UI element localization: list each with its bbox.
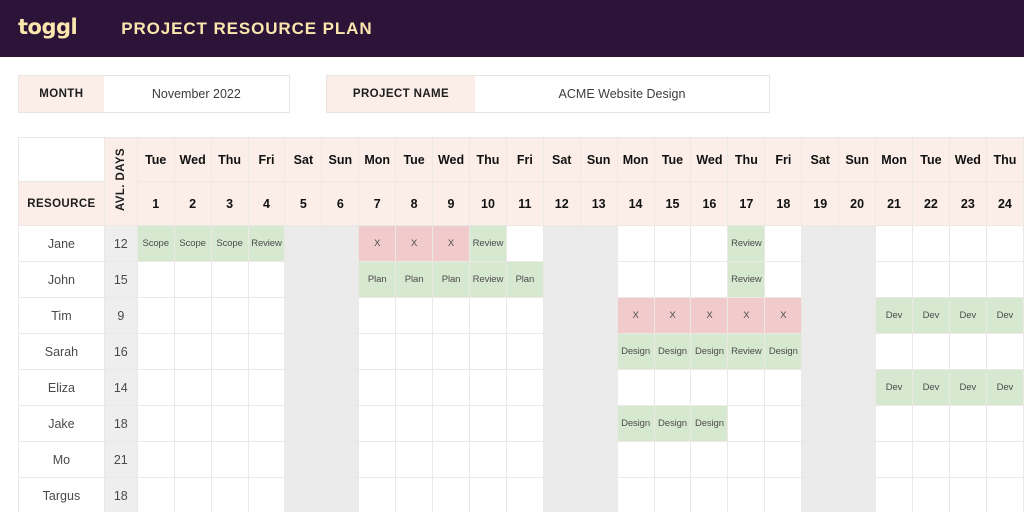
schedule-cell[interactable] (285, 334, 322, 370)
schedule-cell[interactable]: X (396, 226, 433, 262)
schedule-cell[interactable] (469, 442, 506, 478)
schedule-cell[interactable] (654, 478, 691, 512)
day-number-header-2: 2 (174, 182, 211, 226)
schedule-cell[interactable]: Design (617, 406, 654, 442)
table-row: Jane12ScopeScopeScopeReviewXXXReviewRevi… (19, 226, 1024, 262)
schedule-cell[interactable] (285, 226, 322, 262)
day-number-header-9: 9 (433, 182, 470, 226)
schedule-cell[interactable] (211, 334, 248, 370)
day-of-week-header-7: Mon (359, 138, 396, 182)
schedule-cell[interactable]: Review (728, 334, 765, 370)
schedule-cell[interactable] (876, 478, 913, 512)
day-of-week-header-14: Mon (617, 138, 654, 182)
schedule-cell[interactable] (617, 370, 654, 406)
day-of-week-header-1: Tue (137, 138, 174, 182)
table-row: John15PlanPlanPlanReviewPlanReview (19, 262, 1024, 298)
day-number-header-13: 13 (580, 182, 617, 226)
schedule-cell[interactable] (322, 442, 359, 478)
schedule-cell[interactable]: Review (728, 226, 765, 262)
avl-days-header-label: AVL. DAYS (115, 148, 127, 211)
schedule-cell[interactable] (469, 334, 506, 370)
schedule-cell[interactable] (876, 334, 913, 370)
schedule-cell[interactable]: Dev (986, 298, 1023, 334)
schedule-cell[interactable] (691, 370, 728, 406)
project-name-field-value[interactable]: ACME Website Design (475, 76, 769, 112)
month-field-value[interactable]: November 2022 (104, 76, 289, 112)
schedule-cell[interactable] (322, 262, 359, 298)
schedule-cell[interactable] (543, 226, 580, 262)
schedule-cell[interactable] (617, 478, 654, 512)
day-of-week-header-12: Sat (543, 138, 580, 182)
resource-name-cell[interactable]: Jake (19, 406, 105, 442)
schedule-cell[interactable] (433, 334, 470, 370)
schedule-cell[interactable] (691, 478, 728, 512)
schedule-cell[interactable] (137, 442, 174, 478)
available-days-cell[interactable]: 9 (104, 298, 137, 334)
day-of-week-header-10: Thu (469, 138, 506, 182)
schedule-cell[interactable]: Dev (913, 298, 950, 334)
day-of-week-header-4: Fri (248, 138, 285, 182)
day-of-week-header-24: Thu (986, 138, 1023, 182)
schedule-cell[interactable] (876, 406, 913, 442)
day-number-header-14: 14 (617, 182, 654, 226)
schedule-cell[interactable] (211, 478, 248, 512)
schedule-cell[interactable] (285, 442, 322, 478)
resource-name-cell[interactable]: Targus (19, 478, 105, 512)
schedule-cell[interactable] (137, 298, 174, 334)
day-number-header-24: 24 (986, 182, 1023, 226)
day-number-header-4: 4 (248, 182, 285, 226)
schedule-cell[interactable]: Review (469, 262, 506, 298)
day-of-week-header-15: Tue (654, 138, 691, 182)
schedule-cell[interactable]: Review (248, 226, 285, 262)
schedule-cell[interactable] (322, 406, 359, 442)
day-of-week-header-21: Mon (876, 138, 913, 182)
schedule-cell[interactable] (396, 478, 433, 512)
schedule-cell[interactable] (949, 442, 986, 478)
schedule-cell[interactable] (728, 478, 765, 512)
schedule-cell[interactable] (913, 262, 950, 298)
day-of-week-header-3: Thu (211, 138, 248, 182)
schedule-cell[interactable] (285, 478, 322, 512)
schedule-cell[interactable]: X (728, 298, 765, 334)
schedule-cell[interactable] (285, 406, 322, 442)
schedule-cell[interactable] (506, 370, 543, 406)
schedule-cell[interactable] (433, 298, 470, 334)
schedule-cell[interactable]: Design (654, 334, 691, 370)
schedule-cell[interactable] (248, 262, 285, 298)
schedule-cell[interactable] (543, 478, 580, 512)
schedule-cell[interactable] (433, 370, 470, 406)
schedule-cell[interactable] (396, 334, 433, 370)
day-number-header-12: 12 (543, 182, 580, 226)
month-field-label: MONTH (19, 76, 104, 112)
schedule-cell[interactable] (543, 406, 580, 442)
schedule-cell[interactable] (359, 370, 396, 406)
day-of-week-header-19: Sat (802, 138, 839, 182)
schedule-cell[interactable] (396, 406, 433, 442)
schedule-cell[interactable] (359, 298, 396, 334)
schedule-cell[interactable] (506, 406, 543, 442)
day-number-header-19: 19 (802, 182, 839, 226)
schedule-cell[interactable] (580, 262, 617, 298)
schedule-cell[interactable] (802, 442, 839, 478)
schedule-cell[interactable] (174, 298, 211, 334)
schedule-cell[interactable] (986, 406, 1023, 442)
resource-name-cell[interactable]: Mo (19, 442, 105, 478)
schedule-cell[interactable] (506, 478, 543, 512)
schedule-cell[interactable] (617, 226, 654, 262)
schedule-cell[interactable] (137, 334, 174, 370)
schedule-cell[interactable] (543, 298, 580, 334)
schedule-cell[interactable]: Dev (876, 370, 913, 406)
schedule-cell[interactable] (765, 262, 802, 298)
schedule-cell[interactable] (322, 370, 359, 406)
schedule-cell[interactable] (986, 226, 1023, 262)
schedule-cell[interactable] (137, 262, 174, 298)
schedule-cell[interactable]: Review (469, 226, 506, 262)
schedule-cell[interactable]: Design (765, 334, 802, 370)
schedule-cell[interactable]: Plan (359, 262, 396, 298)
month-field[interactable]: MONTH November 2022 (18, 75, 290, 113)
schedule-cell[interactable] (802, 226, 839, 262)
day-number-header-11: 11 (506, 182, 543, 226)
schedule-cell[interactable]: Scope (211, 226, 248, 262)
schedule-cell[interactable] (580, 442, 617, 478)
schedule-cell[interactable] (986, 262, 1023, 298)
schedule-cell[interactable] (580, 370, 617, 406)
schedule-cell[interactable] (248, 442, 285, 478)
schedule-cell[interactable]: Design (654, 406, 691, 442)
day-of-week-header-22: Tue (913, 138, 950, 182)
schedule-cell[interactable] (359, 442, 396, 478)
schedule-cell[interactable]: Plan (433, 262, 470, 298)
day-number-header-5: 5 (285, 182, 322, 226)
schedule-cell[interactable] (211, 370, 248, 406)
schedule-cell[interactable] (654, 226, 691, 262)
schedule-cell[interactable] (174, 442, 211, 478)
resource-name-cell[interactable]: Sarah (19, 334, 105, 370)
day-of-week-header-9: Wed (433, 138, 470, 182)
schedule-cell[interactable] (248, 298, 285, 334)
schedule-cell[interactable] (654, 442, 691, 478)
schedule-cell[interactable] (802, 406, 839, 442)
schedule-cell[interactable] (802, 298, 839, 334)
day-of-week-header-16: Wed (691, 138, 728, 182)
schedule-cell[interactable] (506, 298, 543, 334)
day-number-header-16: 16 (691, 182, 728, 226)
day-number-header-3: 3 (211, 182, 248, 226)
day-of-week-header-17: Thu (728, 138, 765, 182)
schedule-cell[interactable] (322, 478, 359, 512)
table-body: Jane12ScopeScopeScopeReviewXXXReviewRevi… (19, 226, 1024, 512)
schedule-cell[interactable] (986, 478, 1023, 512)
day-of-week-header-11: Fri (506, 138, 543, 182)
day-of-week-header-5: Sat (285, 138, 322, 182)
day-number-header-15: 15 (654, 182, 691, 226)
schedule-cell[interactable] (617, 262, 654, 298)
schedule-cell[interactable] (580, 406, 617, 442)
schedule-cell[interactable] (765, 478, 802, 512)
schedule-cell[interactable]: Review (728, 262, 765, 298)
schedule-cell[interactable] (986, 442, 1023, 478)
schedule-cell[interactable] (913, 478, 950, 512)
schedule-cell[interactable]: Dev (876, 298, 913, 334)
app-header-bar: toggl PROJECT RESOURCE PLAN (0, 0, 1024, 57)
schedule-cell[interactable] (322, 226, 359, 262)
table-row: Jake18DesignDesignDesign (19, 406, 1024, 442)
schedule-cell[interactable] (137, 370, 174, 406)
schedule-cell[interactable] (728, 442, 765, 478)
avl-days-header: AVL. DAYS (104, 138, 137, 226)
schedule-cell[interactable] (211, 442, 248, 478)
schedule-cell[interactable] (433, 406, 470, 442)
schedule-cell[interactable]: Plan (396, 262, 433, 298)
schedule-cell[interactable] (322, 334, 359, 370)
schedule-cell[interactable] (728, 406, 765, 442)
day-number-header-18: 18 (765, 182, 802, 226)
table-row: Targus18 (19, 478, 1024, 512)
schedule-cell[interactable] (285, 298, 322, 334)
schedule-cell[interactable] (802, 478, 839, 512)
schedule-cell[interactable] (469, 298, 506, 334)
schedule-cell[interactable] (913, 406, 950, 442)
resource-header: RESOURCE (19, 182, 105, 226)
schedule-cell[interactable] (839, 298, 876, 334)
day-number-header-23: 23 (949, 182, 986, 226)
meta-fields-row: MONTH November 2022 PROJECT NAME ACME We… (0, 57, 1024, 113)
day-number-header-22: 22 (913, 182, 950, 226)
schedule-cell[interactable] (802, 334, 839, 370)
table-row: Sarah16DesignDesignDesignReviewDesign (19, 334, 1024, 370)
available-days-cell[interactable]: 18 (104, 406, 137, 442)
day-number-header-1: 1 (137, 182, 174, 226)
schedule-cell[interactable]: Design (691, 334, 728, 370)
schedule-cell[interactable] (949, 226, 986, 262)
schedule-cell[interactable] (617, 442, 654, 478)
schedule-cell[interactable] (211, 406, 248, 442)
day-number-header-8: 8 (396, 182, 433, 226)
page-title: PROJECT RESOURCE PLAN (121, 19, 372, 39)
header-row-dow: AVL. DAYS TueWedThuFriSatSunMonTueWedThu… (19, 138, 1024, 182)
schedule-cell[interactable]: X (433, 226, 470, 262)
schedule-cell[interactable] (322, 298, 359, 334)
schedule-cell[interactable] (691, 262, 728, 298)
schedule-cell[interactable] (802, 262, 839, 298)
schedule-cell[interactable]: Design (617, 334, 654, 370)
schedule-cell[interactable] (543, 370, 580, 406)
schedule-cell[interactable]: Scope (174, 226, 211, 262)
schedule-cell[interactable] (174, 406, 211, 442)
available-days-cell[interactable]: 14 (104, 370, 137, 406)
schedule-cell[interactable] (174, 370, 211, 406)
resource-name-cell[interactable]: Eliza (19, 370, 105, 406)
schedule-cell[interactable] (839, 226, 876, 262)
schedule-cell[interactable] (506, 226, 543, 262)
schedule-cell[interactable] (802, 370, 839, 406)
schedule-cell[interactable] (654, 370, 691, 406)
schedule-cell[interactable] (396, 370, 433, 406)
schedule-cell[interactable]: Scope (137, 226, 174, 262)
project-name-field-label: PROJECT NAME (327, 76, 475, 112)
schedule-cell[interactable] (174, 478, 211, 512)
schedule-cell[interactable] (876, 442, 913, 478)
schedule-cell[interactable] (949, 406, 986, 442)
resource-name-cell[interactable]: John (19, 262, 105, 298)
table-header: AVL. DAYS TueWedThuFriSatSunMonTueWedThu… (19, 138, 1024, 226)
schedule-cell[interactable]: X (765, 298, 802, 334)
schedule-cell[interactable] (913, 226, 950, 262)
resource-name-cell[interactable]: Tim (19, 298, 105, 334)
schedule-cell[interactable] (469, 478, 506, 512)
schedule-cell[interactable] (765, 442, 802, 478)
available-days-cell[interactable]: 21 (104, 442, 137, 478)
schedule-cell[interactable] (506, 334, 543, 370)
available-days-cell[interactable]: 15 (104, 262, 137, 298)
schedule-cell[interactable]: Dev (949, 370, 986, 406)
day-of-week-header-13: Sun (580, 138, 617, 182)
schedule-cell[interactable] (580, 478, 617, 512)
schedule-cell[interactable] (285, 370, 322, 406)
table-row: Tim9XXXXXDevDevDevDev (19, 298, 1024, 334)
schedule-cell[interactable] (913, 442, 950, 478)
schedule-cell[interactable] (396, 442, 433, 478)
schedule-cell[interactable]: Plan (506, 262, 543, 298)
schedule-cell[interactable] (248, 334, 285, 370)
resource-plan-table: AVL. DAYS TueWedThuFriSatSunMonTueWedThu… (18, 137, 1024, 512)
schedule-cell[interactable] (839, 370, 876, 406)
project-name-field[interactable]: PROJECT NAME ACME Website Design (326, 75, 770, 113)
schedule-cell[interactable] (949, 478, 986, 512)
schedule-cell[interactable]: X (691, 298, 728, 334)
schedule-cell[interactable] (174, 334, 211, 370)
schedule-cell[interactable] (765, 226, 802, 262)
day-number-header-17: 17 (728, 182, 765, 226)
schedule-cell[interactable] (580, 226, 617, 262)
schedule-cell[interactable] (137, 406, 174, 442)
day-number-header-20: 20 (839, 182, 876, 226)
schedule-cell[interactable] (839, 442, 876, 478)
schedule-cell[interactable] (396, 298, 433, 334)
schedule-cell[interactable] (433, 478, 470, 512)
schedule-cell[interactable] (839, 478, 876, 512)
schedule-cell[interactable] (174, 262, 211, 298)
schedule-cell[interactable] (285, 262, 322, 298)
header-row-daynum: RESOURCE 1234567891011121314151617181920… (19, 182, 1024, 226)
schedule-cell[interactable]: Design (691, 406, 728, 442)
corner-blank-cell (19, 138, 105, 182)
schedule-cell[interactable] (580, 334, 617, 370)
day-number-header-10: 10 (469, 182, 506, 226)
schedule-cell[interactable] (876, 262, 913, 298)
day-number-header-6: 6 (322, 182, 359, 226)
schedule-cell[interactable] (248, 406, 285, 442)
schedule-cell[interactable] (913, 334, 950, 370)
schedule-cell[interactable] (248, 478, 285, 512)
schedule-cell[interactable] (949, 334, 986, 370)
schedule-cell[interactable] (580, 298, 617, 334)
resource-plan-grid: AVL. DAYS TueWedThuFriSatSunMonTueWedThu… (18, 137, 1024, 512)
schedule-cell[interactable] (691, 442, 728, 478)
schedule-cell[interactable] (506, 442, 543, 478)
schedule-cell[interactable]: X (654, 298, 691, 334)
schedule-cell[interactable] (248, 370, 285, 406)
schedule-cell[interactable] (433, 442, 470, 478)
schedule-cell[interactable]: X (617, 298, 654, 334)
schedule-cell[interactable] (986, 334, 1023, 370)
schedule-cell[interactable] (469, 370, 506, 406)
schedule-cell[interactable] (543, 262, 580, 298)
day-of-week-header-18: Fri (765, 138, 802, 182)
schedule-cell[interactable] (359, 334, 396, 370)
schedule-cell[interactable]: Dev (986, 370, 1023, 406)
schedule-cell[interactable] (765, 370, 802, 406)
schedule-cell[interactable] (359, 406, 396, 442)
available-days-cell[interactable]: 18 (104, 478, 137, 512)
schedule-cell[interactable] (728, 370, 765, 406)
schedule-cell[interactable] (211, 262, 248, 298)
schedule-cell[interactable] (691, 226, 728, 262)
day-of-week-header-20: Sun (839, 138, 876, 182)
resource-name-cell[interactable]: Jane (19, 226, 105, 262)
schedule-cell[interactable] (543, 334, 580, 370)
day-number-header-21: 21 (876, 182, 913, 226)
toggl-logo[interactable]: toggl (18, 17, 77, 38)
schedule-cell[interactable] (137, 478, 174, 512)
schedule-cell[interactable] (211, 298, 248, 334)
schedule-cell[interactable] (839, 406, 876, 442)
schedule-cell[interactable] (469, 406, 506, 442)
available-days-cell[interactable]: 12 (104, 226, 137, 262)
schedule-cell[interactable]: Dev (913, 370, 950, 406)
schedule-cell[interactable] (949, 262, 986, 298)
schedule-cell[interactable] (765, 406, 802, 442)
table-row: Mo21 (19, 442, 1024, 478)
schedule-cell[interactable] (876, 226, 913, 262)
day-of-week-header-2: Wed (174, 138, 211, 182)
schedule-cell[interactable] (359, 478, 396, 512)
schedule-cell[interactable]: X (359, 226, 396, 262)
day-of-week-header-6: Sun (322, 138, 359, 182)
day-of-week-header-23: Wed (949, 138, 986, 182)
schedule-cell[interactable] (654, 262, 691, 298)
schedule-cell[interactable] (839, 334, 876, 370)
available-days-cell[interactable]: 16 (104, 334, 137, 370)
schedule-cell[interactable] (543, 442, 580, 478)
day-number-header-7: 7 (359, 182, 396, 226)
day-of-week-header-8: Tue (396, 138, 433, 182)
schedule-cell[interactable] (839, 262, 876, 298)
schedule-cell[interactable]: Dev (949, 298, 986, 334)
table-row: Eliza14DevDevDevDev (19, 370, 1024, 406)
